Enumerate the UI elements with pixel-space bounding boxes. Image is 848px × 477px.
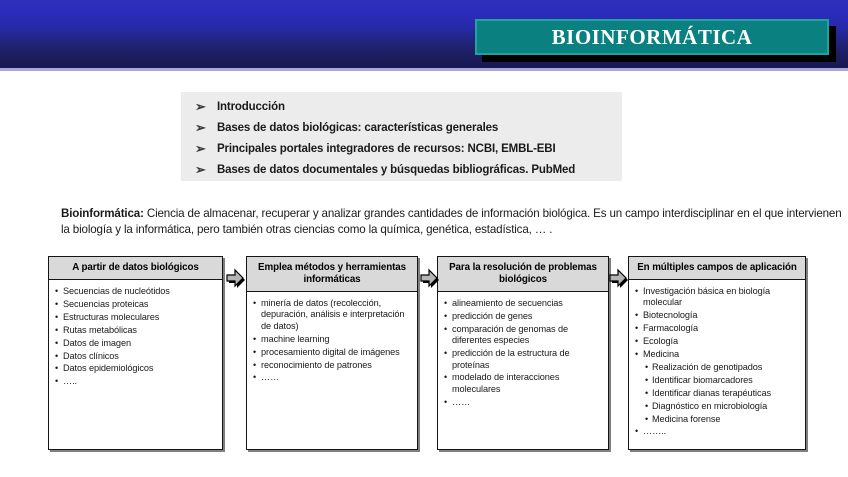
column-body-1: •Secuencias de nucleótidos•Secuencias pr… [49, 280, 222, 388]
definition-text: Ciencia de almacenar, recuperar y analiz… [61, 207, 842, 236]
bullet-icon: • [55, 299, 63, 310]
list-item: •Realización de genotipados [635, 362, 801, 373]
bullet-icon: • [253, 347, 261, 358]
chevron-right-icon: ➢ [195, 119, 217, 137]
list-item-label: predicción de genes [452, 311, 604, 322]
bullet-icon: • [55, 338, 63, 349]
title-plaque: BIOINFORMÁTICA [475, 19, 829, 55]
list-item: •comparación de genomas de diferentes es… [444, 324, 604, 347]
agenda-item-1[interactable]: ➢Introducción [181, 98, 622, 119]
list-item: •Identificar biomarcadores [635, 375, 801, 386]
column-box-4: En múltiples campos de aplicación •Inves… [628, 256, 806, 450]
bullet-icon: • [55, 286, 63, 297]
list-item: •predicción de la estructura de proteína… [444, 348, 604, 371]
list-item-label: Identificar biomarcadores [652, 375, 801, 386]
bullet-icon: • [645, 375, 652, 386]
column-box-2: Emplea métodos y herramientas informátic… [246, 256, 418, 450]
agenda-item-4[interactable]: ➢Bases de datos documentales y búsquedas… [181, 161, 622, 182]
list-item: •Estructuras moleculares [55, 312, 218, 323]
column-header-1: A partir de datos biológicos [49, 257, 222, 280]
list-item-label: Medicina [643, 349, 801, 360]
list-item: •predicción de genes [444, 311, 604, 322]
column-body-4: •Investigación básica en biología molecu… [629, 280, 805, 438]
list-item: •modelado de interacciones moleculares [444, 372, 604, 395]
arrow-col1-to-col2-icon [225, 267, 245, 289]
list-item-label: Medicina forense [652, 414, 801, 425]
bullet-icon: • [253, 360, 261, 371]
chevron-right-icon: ➢ [195, 161, 217, 179]
agenda-item-label: Principales portales integradores de rec… [217, 140, 556, 158]
list-item: •Diagnóstico en microbiología [635, 401, 801, 412]
list-item-label: Datos de imagen [63, 338, 218, 349]
definition-term: Bioinformática: [61, 207, 144, 220]
column-header-3: Para la resolución de problemas biológic… [438, 257, 608, 292]
list-item: •Datos de imagen [55, 338, 218, 349]
list-item: •Datos clínicos [55, 351, 218, 362]
bullet-icon: • [645, 388, 652, 399]
column-box-1: A partir de datos biológicos •Secuencias… [48, 256, 223, 450]
list-item-label: Diagnóstico en microbiología [652, 401, 801, 412]
list-item: •minería de datos (recolección, depuraci… [253, 298, 413, 332]
column-body-3: •alineamiento de secuencias•predicción d… [438, 292, 608, 408]
column-body-2: •minería de datos (recolección, depuraci… [247, 292, 417, 384]
bullet-icon: • [645, 414, 652, 425]
list-item: •Medicina forense [635, 414, 801, 425]
list-item-label: comparación de genomas de diferentes esp… [452, 324, 604, 347]
bullet-icon: • [645, 401, 652, 412]
agenda-item-label: Bases de datos biológicas: característic… [217, 119, 498, 137]
chevron-right-icon: ➢ [195, 98, 217, 116]
list-item-label: reconocimiento de patrones [261, 360, 413, 371]
column-header-4: En múltiples campos de aplicación [629, 257, 805, 280]
list-item-label: Datos clínicos [63, 351, 218, 362]
list-item: •…….. [635, 426, 801, 437]
bullet-icon: • [635, 426, 643, 437]
list-item: •Identificar dianas terapéuticas [635, 388, 801, 399]
list-item: •Datos epidemiológicos [55, 363, 218, 374]
definition-paragraph: Bioinformática: Ciencia de almacenar, re… [61, 206, 843, 237]
header-accent-line [0, 68, 848, 71]
list-item: •procesamiento digital de imágenes [253, 347, 413, 358]
list-item: •Rutas metabólicas [55, 325, 218, 336]
list-item: •…… [253, 372, 413, 383]
list-item-label: Estructuras moleculares [63, 312, 218, 323]
bullet-icon: • [55, 325, 63, 336]
list-item-label: alineamiento de secuencias [452, 298, 604, 309]
bullet-icon: • [444, 311, 452, 322]
list-item-label: Datos epidemiológicos [63, 363, 218, 374]
list-item-label: procesamiento digital de imágenes [261, 347, 413, 358]
bullet-icon: • [635, 286, 643, 297]
arrow-col3-to-col4-icon [608, 267, 628, 289]
page-title: BIOINFORMÁTICA [552, 25, 753, 50]
bullet-icon: • [444, 298, 452, 309]
agenda-item-2[interactable]: ➢Bases de datos biológicas: característi… [181, 119, 622, 140]
list-item-label: Ecología [643, 336, 801, 347]
list-item: •Farmacología [635, 323, 801, 334]
list-item-label: predicción de la estructura de proteínas [452, 348, 604, 371]
list-item-label: Identificar dianas terapéuticas [652, 388, 801, 399]
bullet-icon: • [635, 349, 643, 360]
list-item: •Ecología [635, 336, 801, 347]
list-item-label: Rutas metabólicas [63, 325, 218, 336]
list-item: •Medicina [635, 349, 801, 360]
list-item: •reconocimiento de patrones [253, 360, 413, 371]
bullet-icon: • [444, 397, 452, 408]
bullet-icon: • [253, 298, 261, 309]
agenda-item-3[interactable]: ➢Principales portales integradores de re… [181, 140, 622, 161]
agenda-item-label: Bases de datos documentales y búsquedas … [217, 161, 575, 179]
column-header-2: Emplea métodos y herramientas informátic… [247, 257, 417, 292]
list-item: •machine learning [253, 334, 413, 345]
list-item: •Biotecnología [635, 310, 801, 321]
list-item: •Secuencias proteicas [55, 299, 218, 310]
list-item-label: …… [261, 372, 413, 383]
list-item-label: Realización de genotipados [652, 362, 801, 373]
bullet-icon: • [635, 310, 643, 321]
list-item-label: Secuencias de nucleótidos [63, 286, 218, 297]
list-item: •…… [444, 397, 604, 408]
chevron-right-icon: ➢ [195, 140, 217, 158]
agenda-list: ➢Introducción➢Bases de datos biológicas:… [181, 92, 622, 181]
bullet-icon: • [55, 312, 63, 323]
list-item: •alineamiento de secuencias [444, 298, 604, 309]
bullet-icon: • [55, 376, 63, 387]
bullet-icon: • [444, 372, 452, 383]
column-box-3: Para la resolución de problemas biológic… [437, 256, 609, 450]
list-item-label: …….. [643, 426, 801, 437]
list-item: •Investigación básica en biología molecu… [635, 286, 801, 309]
list-item: •Secuencias de nucleótidos [55, 286, 218, 297]
list-item-label: Investigación básica en biología molecul… [643, 286, 801, 309]
bullet-icon: • [55, 363, 63, 374]
list-item: •….. [55, 376, 218, 387]
bullet-icon: • [253, 334, 261, 345]
bullet-icon: • [444, 324, 452, 335]
list-item-label: modelado de interacciones moleculares [452, 372, 604, 395]
arrow-col2-to-col3-icon [419, 267, 439, 289]
list-item-label: machine learning [261, 334, 413, 345]
agenda-item-label: Introducción [217, 98, 285, 116]
bullet-icon: • [253, 372, 261, 383]
list-item-label: minería de datos (recolección, depuració… [261, 298, 413, 332]
list-item-label: ….. [63, 376, 218, 387]
bullet-icon: • [55, 351, 63, 362]
list-item-label: Secuencias proteicas [63, 299, 218, 310]
list-item-label: Farmacología [643, 323, 801, 334]
list-item-label: …… [452, 397, 604, 408]
bullet-icon: • [645, 362, 652, 373]
bullet-icon: • [444, 348, 452, 359]
list-item-label: Biotecnología [643, 310, 801, 321]
bullet-icon: • [635, 336, 643, 347]
bullet-icon: • [635, 323, 643, 334]
